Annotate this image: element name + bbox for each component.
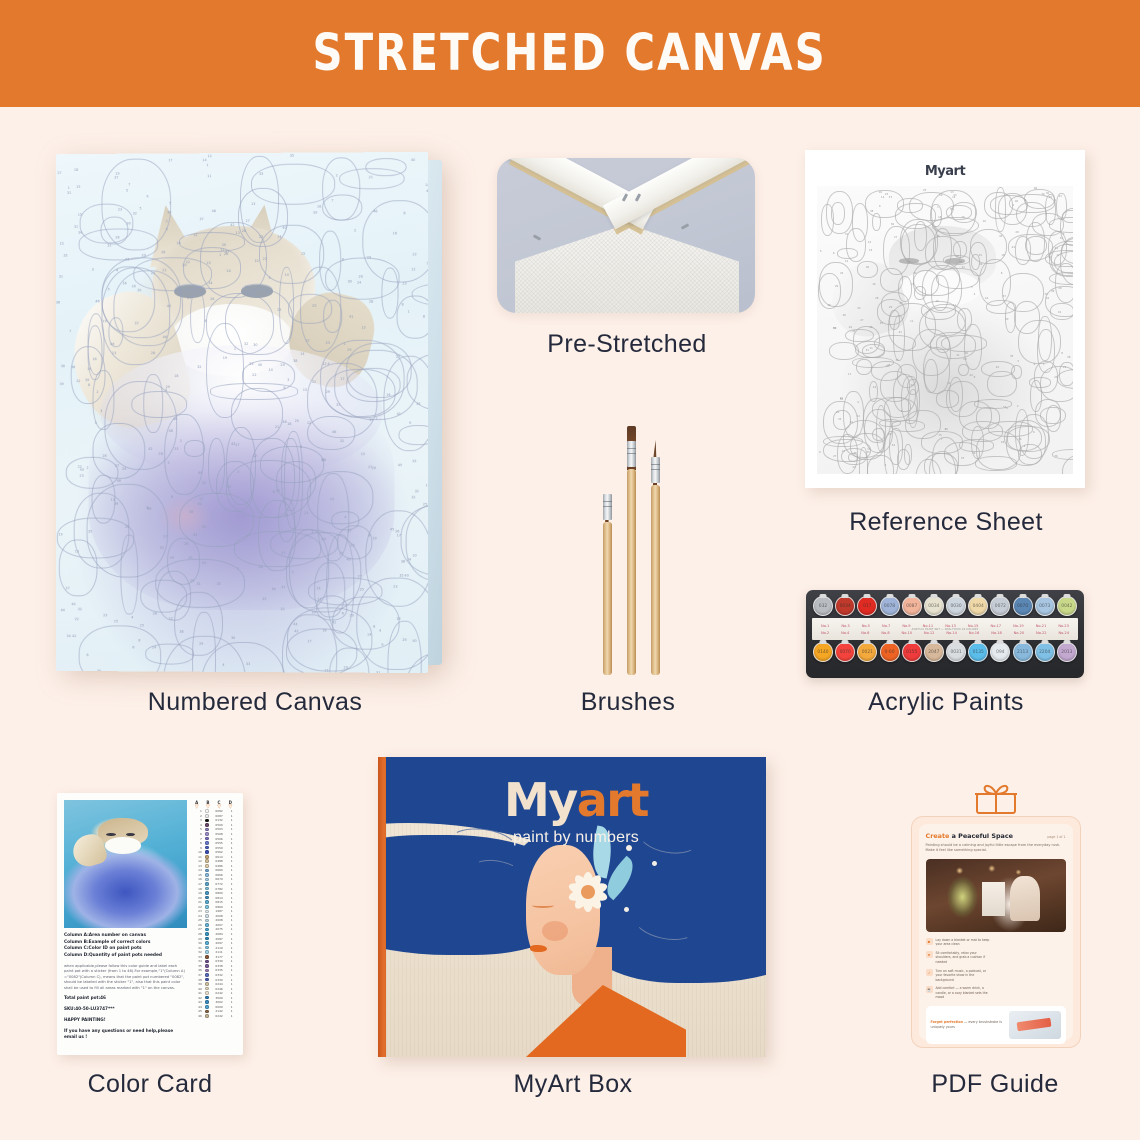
contact-text: If you have any questions or need help,p… [64, 1028, 187, 1041]
brush-2 [626, 397, 636, 675]
pdf-note-image [1009, 1011, 1061, 1039]
pot-quantity: 1 [229, 896, 234, 900]
pot-quantity: 1 [229, 923, 234, 927]
color-swatch [205, 955, 209, 959]
tip-text: Turn on soft music, a podcast, or your f… [936, 969, 994, 983]
color-id: 0555 [213, 841, 226, 845]
paint-pot: 017 [857, 596, 877, 616]
strip-label: No.8 [881, 631, 889, 635]
color-swatch [205, 969, 209, 973]
color-swatch [205, 923, 209, 927]
caption-numbered-canvas: Numbered Canvas [55, 688, 455, 717]
color-swatch [205, 891, 209, 895]
color-id: 0242 [213, 1014, 226, 1018]
color-id: 3009 [213, 996, 226, 1000]
cc-cat-muzzle [105, 837, 142, 854]
paint-pot-id: 0135 [969, 643, 987, 661]
area-number: 37 [193, 973, 202, 977]
color-id: 2142 [213, 1009, 226, 1013]
area-number: 8 [193, 841, 202, 845]
color-id: 0815 [213, 900, 226, 904]
color-id: 0338 [213, 964, 226, 968]
area-number: 11 [193, 855, 202, 859]
color-swatch [205, 941, 209, 945]
color-swatch [205, 996, 209, 1000]
note-accent: Forget perfection [931, 1020, 964, 1024]
box-front-face: Myart paint by numbers [386, 757, 766, 1057]
pot-quantity: 1 [229, 1009, 234, 1013]
paint-pot-row-top: 0320034017007800870034003004040072007000… [811, 596, 1079, 616]
color-id: 0339 [213, 959, 226, 963]
area-number: 30 [193, 941, 202, 945]
area-number: 16 [193, 877, 202, 881]
color-id: 2084 [213, 932, 226, 936]
pdf-tip-item: ☕Add comfort — a warm drink, a candle, o… [926, 986, 994, 1000]
brush-3 [650, 407, 660, 675]
pdf-tip-item: ●Sit comfortably, relax your shoulders, … [926, 951, 994, 965]
area-number: 41 [193, 991, 202, 995]
tip-icon: ☕ [926, 986, 933, 993]
paint-pot-id: 0072 [991, 597, 1009, 615]
color-swatch [205, 950, 209, 954]
strip-label: No.16 [969, 631, 980, 635]
color-id: 0242 [213, 991, 226, 995]
color-swatch [205, 919, 209, 923]
pot-quantity: 1 [229, 973, 234, 977]
pot-quantity: 1 [229, 914, 234, 918]
cheek-blush [542, 921, 568, 941]
color-id: 1987 [213, 909, 226, 913]
color-swatch [205, 987, 209, 991]
color-swatch [205, 946, 209, 950]
area-number: 29 [193, 937, 202, 941]
strip-label: No.14 [946, 631, 957, 635]
color-swatch [205, 991, 209, 995]
paint-pot: 032 [813, 596, 833, 616]
color-swatch [205, 932, 209, 936]
brush-ferrule [627, 441, 637, 467]
pdf-guide-tips-list: ■Lay down a blanket or mat to keep your … [926, 938, 1066, 1000]
reference-sheet-logo: Myart [817, 164, 1073, 179]
paint-pot: 0021 [857, 642, 877, 662]
area-number: 2 [193, 814, 202, 818]
pot-quantity: 1 [229, 968, 234, 972]
area-number: 42 [193, 996, 202, 1000]
paint-pot-id: 0021 [858, 643, 876, 661]
color-swatch [205, 855, 209, 859]
area-number: 7 [193, 837, 202, 841]
paint-pot-id: 0078 [881, 597, 899, 615]
paint-pot: 0155 [902, 642, 922, 662]
caption-color-card: Color Card [50, 1070, 250, 1099]
pre-stretched-product [497, 158, 757, 313]
sku-code: SKU:40-50-LU3747*** [64, 1006, 187, 1013]
area-number: 6 [193, 832, 202, 836]
pdf-guide-page: Create a Peaceful Space page 1 of 1 Pain… [919, 824, 1073, 1040]
paint-pot-id: 0034 [925, 597, 943, 615]
pot-quantity: 1 [229, 850, 234, 854]
paint-pot: 0078 [880, 596, 900, 616]
canvas-image: 2525491831352342403571441221417194214629… [55, 150, 445, 675]
color-swatch [205, 882, 209, 886]
color-id: 0488 [213, 859, 226, 863]
color-card-instructions: when applicable,please follow this color… [64, 964, 187, 992]
brush-ferrule [651, 457, 661, 483]
area-number: 5 [193, 827, 202, 831]
brushes-product [540, 385, 720, 675]
pot-quantity: 1 [229, 909, 234, 913]
box-image: Myart paint by numbers [378, 757, 766, 1057]
caption-myart-box: MyArt Box [378, 1070, 768, 1099]
pdf-guide-title: Create a Peaceful Space [926, 832, 1013, 840]
paint-pot: 2204 [1035, 642, 1055, 662]
color-id: 0614 [213, 855, 226, 859]
color-id: 0869 [213, 905, 226, 909]
area-number: 4 [193, 823, 202, 827]
tip-text: Add comfort — a warm drink, a candle, or… [936, 986, 994, 1000]
pot-quantity: 1 [229, 887, 234, 891]
color-swatch [205, 914, 209, 918]
caption-pdf-guide: PDF Guide [895, 1070, 1095, 1099]
caption-acrylic-paints: Acrylic Paints [800, 688, 1092, 717]
paint-pot: 2113 [1013, 642, 1033, 662]
color-table-rows: 1008212008713013214050015050316050817050… [191, 809, 236, 1018]
paint-pot-id: 0030 [947, 597, 965, 615]
numbered-canvas-product: 2525491831352342403571441221417194214629… [55, 150, 455, 675]
color-id: 2087 [213, 937, 226, 941]
color-swatch [205, 823, 209, 827]
color-swatch [205, 841, 209, 845]
color-card-artwork-preview [64, 800, 187, 928]
paint-pot-row-bottom: 0140007000210-60015520470031013509421132… [811, 642, 1079, 662]
paint-pot-id: 2013 [1058, 643, 1076, 661]
pdf-guide-header: Create a Peaceful Space page 1 of 1 [926, 832, 1066, 840]
paint-pot-id: 094 [991, 643, 1009, 661]
color-swatch [205, 864, 209, 868]
legend-line: Column C:Color ID on paint pots [64, 946, 187, 953]
box-logo-block: Myart paint by numbers [386, 773, 766, 847]
strip-numbers-bottom: No.2No.4No.6No.8No.10No.12No.14No.16No.1… [812, 631, 1078, 635]
color-id: 0782 [213, 887, 226, 891]
box-subtitle: paint by numbers [386, 829, 766, 847]
tip-text: Sit comfortably, relax your shoulders, a… [936, 951, 994, 965]
pot-quantity: 1 [229, 841, 234, 845]
tip-icon: ■ [926, 938, 933, 945]
area-number: 1 [193, 809, 202, 813]
pot-quantity: 1 [229, 946, 234, 950]
area-number: 20 [193, 896, 202, 900]
area-number: 19 [193, 891, 202, 895]
paint-tray: 0320034017007800870034003004040072007000… [806, 590, 1084, 678]
area-number: 35 [193, 964, 202, 968]
color-swatch [205, 973, 209, 977]
pot-quantity: 1 [229, 978, 234, 982]
pot-quantity: 1 [229, 837, 234, 841]
caption-pre-stretched: Pre-Stretched [497, 330, 757, 359]
strip-label: No.18 [991, 631, 1002, 635]
pot-quantity: 1 [229, 864, 234, 868]
color-id: 0772 [213, 882, 226, 886]
area-number: 10 [193, 850, 202, 854]
color-id: 2008 [213, 918, 226, 922]
pdf-guide-intro: Painting should be a calming and joyful … [926, 843, 1066, 854]
reference-sheet-outline-image: 4641116422732814204532364440361220142333… [817, 186, 1073, 474]
closed-eye [532, 903, 554, 908]
brush-handle [627, 469, 636, 675]
strip-label: No.12 [924, 631, 935, 635]
paint-pot-id: 0031 [947, 643, 965, 661]
legend-line: Column D:Quantity of paint pots needed [64, 953, 187, 960]
paint-pot-id: 0042 [1058, 597, 1076, 615]
paint-tray-label-strip: No.1No.3No.5No.7No.9No.11No.13No.15No.17… [812, 618, 1078, 640]
pot-quantity: 1 [229, 891, 234, 895]
paint-pot-id: 2113 [1014, 643, 1032, 661]
pot-quantity: 1 [229, 964, 234, 968]
color-swatch [205, 887, 209, 891]
color-id: 0814 [213, 896, 226, 900]
area-number: 40 [193, 987, 202, 991]
pdf-page-label: page 1 of 1 [1047, 835, 1065, 839]
color-id: 0506 [213, 837, 226, 841]
pot-quantity: 1 [229, 814, 234, 818]
paint-pot-id: 0070 [836, 643, 854, 661]
color-swatch [205, 1000, 209, 1004]
color-id: 3177 [213, 955, 226, 959]
color-id: 0503 [213, 827, 226, 831]
daisy-center [581, 885, 595, 899]
paint-pot: 0140 [813, 642, 833, 662]
color-swatch [205, 896, 209, 900]
pot-quantity: 1 [229, 905, 234, 909]
painter-figure [1010, 876, 1041, 921]
myart-logo: Myart [386, 773, 766, 827]
color-swatch [205, 873, 209, 877]
color-card-left-column: Column A:Area number on canvas Column B:… [64, 800, 187, 1048]
pot-quantity: 1 [229, 832, 234, 836]
page-title: STRETCHED CANVAS [313, 24, 827, 83]
strip-label: No.24 [1058, 631, 1069, 635]
sparkle-dot [624, 907, 629, 912]
area-number: 23 [193, 909, 202, 913]
strip-label: No.10 [902, 631, 913, 635]
strip-label: No.2 [821, 631, 829, 635]
color-swatch [205, 964, 209, 968]
color-swatch [205, 978, 209, 982]
strip-label: No.22 [1036, 631, 1047, 635]
area-number: 32 [193, 950, 202, 954]
area-number: 15 [193, 873, 202, 877]
color-id: 0335 [213, 968, 226, 972]
staple-icon [533, 234, 541, 240]
color-id: 2119 [213, 946, 226, 950]
paint-pot: 0072 [990, 596, 1010, 616]
paint-pot-id: 0087 [903, 597, 921, 615]
paint-pot: 0135 [968, 642, 988, 662]
pot-quantity: 1 [229, 873, 234, 877]
paint-pot: 0073 [1035, 596, 1055, 616]
area-number: 22 [193, 905, 202, 909]
paint-pot: 0404 [968, 596, 988, 616]
pot-quantity: 1 [229, 932, 234, 936]
page-header: STRETCHED CANVAS [0, 0, 1140, 107]
paint-pot-id: 032 [814, 597, 832, 615]
area-number: 46 [193, 1014, 202, 1018]
area-number: 36 [193, 968, 202, 972]
color-swatch [205, 1005, 209, 1009]
pot-quantity: 1 [229, 846, 234, 850]
paint-pot: 0-60 [880, 642, 900, 662]
color-id: 0087 [213, 814, 226, 818]
daisy-flower-icon [561, 865, 615, 919]
area-number: 25 [193, 918, 202, 922]
area-number: 12 [193, 859, 202, 863]
area-number: 14 [193, 868, 202, 872]
pdf-title-rest: a Peaceful Space [949, 832, 1013, 840]
caption-brushes: Brushes [520, 688, 736, 717]
color-id: 2075 [213, 927, 226, 931]
canvas-back-weave [515, 224, 739, 313]
pot-quantity: 1 [229, 941, 234, 945]
pot-quantity: 1 [229, 1000, 234, 1004]
paint-pot-id: 0155 [903, 643, 921, 661]
lips [530, 945, 547, 952]
brush-1 [602, 427, 612, 675]
tip-text: Lay down a blanket or mat to keep your a… [936, 938, 994, 947]
color-id: 0082 [213, 809, 226, 813]
legend-line: Column A:Area number on canvas [64, 933, 187, 940]
area-number: 33 [193, 955, 202, 959]
color-id: 2007 [213, 923, 226, 927]
color-card-text-block: Column A:Area number on canvas Column B:… [64, 928, 187, 1041]
canvas-front-face: 2525491831352342403571441221417194214629… [56, 152, 428, 673]
acrylic-paints-product: 0320034017007800870034003004040072007000… [806, 590, 1086, 678]
color-id: 0244 [213, 982, 226, 986]
color-id: 0332 [213, 973, 226, 977]
pot-quantity: 1 [229, 955, 234, 959]
color-id: 2097 [213, 941, 226, 945]
area-number: 39 [193, 982, 202, 986]
pot-quantity: 1 [229, 868, 234, 872]
paint-pot: 0031 [946, 642, 966, 662]
area-number: 43 [193, 1000, 202, 1004]
area-number: 9 [193, 846, 202, 850]
paint-pot-id: 017 [858, 597, 876, 615]
pot-quantity: 1 [229, 1005, 234, 1009]
color-swatch [205, 878, 209, 882]
color-swatch [205, 928, 209, 932]
strip-label: No.4 [841, 631, 849, 635]
staple-icon [681, 223, 689, 229]
paint-pot: 0034 [835, 596, 855, 616]
color-id: 0559 [213, 846, 226, 850]
pot-quantity: 1 [229, 996, 234, 1000]
pot-quantity: 1 [229, 991, 234, 995]
paint-by-number-regions: 2525491831352342403571441221417194214629… [56, 152, 428, 673]
pot-quantity: 1 [229, 809, 234, 813]
color-id: 0508 [213, 832, 226, 836]
color-swatch [205, 900, 209, 904]
area-number: 18 [193, 887, 202, 891]
area-number: 21 [193, 900, 202, 904]
logo-art-text: art [577, 773, 648, 827]
area-number: 3 [193, 818, 202, 822]
paint-pot: 094 [990, 642, 1010, 662]
paint-pot-id: 0404 [969, 597, 987, 615]
paint-pot: 0070 [1013, 596, 1033, 616]
color-id: 0660 [213, 868, 226, 872]
pot-quantity: 1 [229, 937, 234, 941]
paint-pot: 0087 [902, 596, 922, 616]
area-number: 13 [193, 864, 202, 868]
easel-canvas [982, 882, 1006, 916]
area-number: 26 [193, 923, 202, 927]
pot-quantity: 1 [229, 1014, 234, 1018]
color-id: 0562 [213, 850, 226, 854]
pdf-guide-note: Forget perfection — every brushstroke is… [926, 1006, 1066, 1044]
paint-pot-id: 2204 [1036, 643, 1054, 661]
color-id: 2111 [213, 950, 226, 954]
color-id: 0486 [213, 864, 226, 868]
pot-quantity: 1 [229, 877, 234, 881]
pdf-guide-product: Create a Peaceful Space page 1 of 1 Pain… [903, 782, 1088, 1048]
pot-quantity: 1 [229, 855, 234, 859]
brush-handle [603, 522, 612, 675]
pdf-tip-item: ■Lay down a blanket or mat to keep your … [926, 938, 994, 947]
pot-quantity: 1 [229, 823, 234, 827]
pot-quantity: 1 [229, 987, 234, 991]
strip-label: No.20 [1014, 631, 1025, 635]
color-id: 2008 [213, 914, 226, 918]
color-id: 0132 [213, 818, 226, 822]
reference-sheet-paper: Myart 4641116422732814204532364440361220… [805, 150, 1085, 488]
color-id: 0679 [213, 877, 226, 881]
color-swatch [205, 814, 209, 818]
color-swatch [205, 859, 209, 863]
strip-label: No.6 [861, 631, 869, 635]
pot-quantity: 1 [229, 882, 234, 886]
color-swatch [205, 1010, 209, 1014]
arrow-down-icon: ▽ [206, 805, 210, 809]
pdf-tip-item: ♪Turn on soft music, a podcast, or your … [926, 969, 994, 983]
paint-pot: 2047 [924, 642, 944, 662]
area-number: 38 [193, 978, 202, 982]
pot-quantity: 1 [229, 827, 234, 831]
pot-quantity: 1 [229, 818, 234, 822]
color-swatch [205, 837, 209, 841]
tip-icon: ● [926, 951, 933, 958]
pot-quantity: 1 [229, 959, 234, 963]
color-table-row: 4602421 [191, 1014, 236, 1019]
color-swatch [205, 809, 209, 813]
myart-box-product: Myart paint by numbers [378, 757, 768, 1057]
color-card-paper: Column A:Area number on canvas Column B:… [57, 793, 243, 1055]
color-id: 0246 [213, 987, 226, 991]
area-number: 28 [193, 932, 202, 936]
area-number: 31 [193, 946, 202, 950]
color-swatch [205, 828, 209, 832]
color-id: 0666 [213, 873, 226, 877]
pre-stretched-photo [497, 158, 755, 313]
color-swatch [205, 910, 209, 914]
area-number: 17 [193, 882, 202, 886]
paint-pot: 0030 [946, 596, 966, 616]
paint-pot-id: 0-60 [881, 643, 899, 661]
color-id: 0500 [213, 823, 226, 827]
brush-handle [651, 485, 660, 675]
brush-set-image [540, 385, 720, 675]
paint-pot: 0042 [1057, 596, 1077, 616]
area-number: 24 [193, 914, 202, 918]
